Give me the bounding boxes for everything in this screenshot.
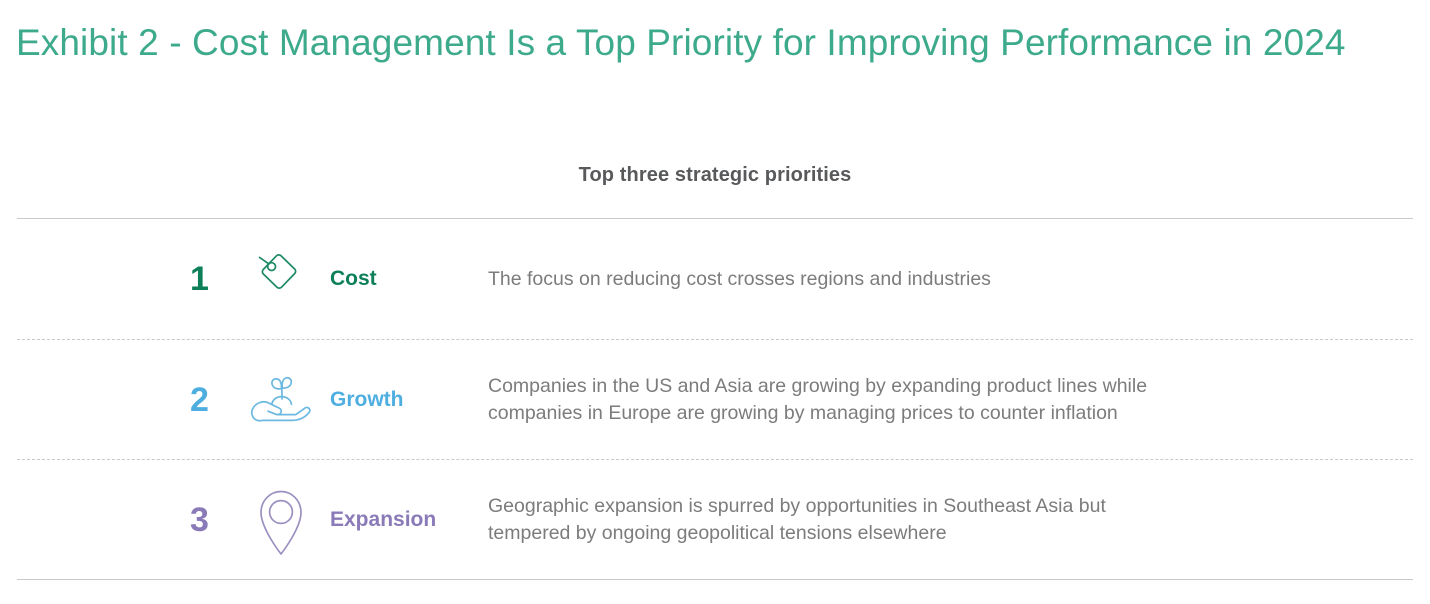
table-row: 1 Cost The focus on reducing cost crosse… — [17, 219, 1413, 339]
price-tag-icon — [242, 248, 320, 310]
exhibit-title: Exhibit 2 - Cost Management Is a Top Pri… — [16, 18, 1386, 68]
description-line: The focus on reducing cost crosses regio… — [488, 266, 1393, 293]
priorities-table: 1 Cost The focus on reducing cost crosse… — [17, 218, 1413, 580]
priority-label: Expansion — [320, 508, 488, 532]
priority-description: Companies in the US and Asia are growing… — [488, 373, 1413, 427]
description-line: tempered by ongoing geopolitical tension… — [488, 520, 1393, 547]
hand-with-sprout-icon — [242, 369, 320, 431]
table-row: 3 Expansion Geographic expansion is spur… — [17, 459, 1413, 579]
priority-label: Cost — [320, 267, 488, 291]
description-line: Geographic expansion is spurred by oppor… — [488, 493, 1393, 520]
priority-description: Geographic expansion is spurred by oppor… — [488, 493, 1413, 547]
description-line: companies in Europe are growing by manag… — [488, 400, 1393, 427]
rank-number: 3 — [190, 503, 242, 537]
priority-label: Growth — [320, 388, 488, 412]
priority-description: The focus on reducing cost crosses regio… — [488, 266, 1413, 293]
exhibit-container: Exhibit 2 - Cost Management Is a Top Pri… — [0, 0, 1430, 604]
map-pin-icon — [242, 482, 320, 558]
table-row: 2 — [17, 339, 1413, 459]
rank-number: 2 — [190, 383, 242, 417]
rank-number: 1 — [190, 262, 242, 296]
column-header: Top three strategic priorities — [17, 164, 1413, 187]
description-line: Companies in the US and Asia are growing… — [488, 373, 1393, 400]
